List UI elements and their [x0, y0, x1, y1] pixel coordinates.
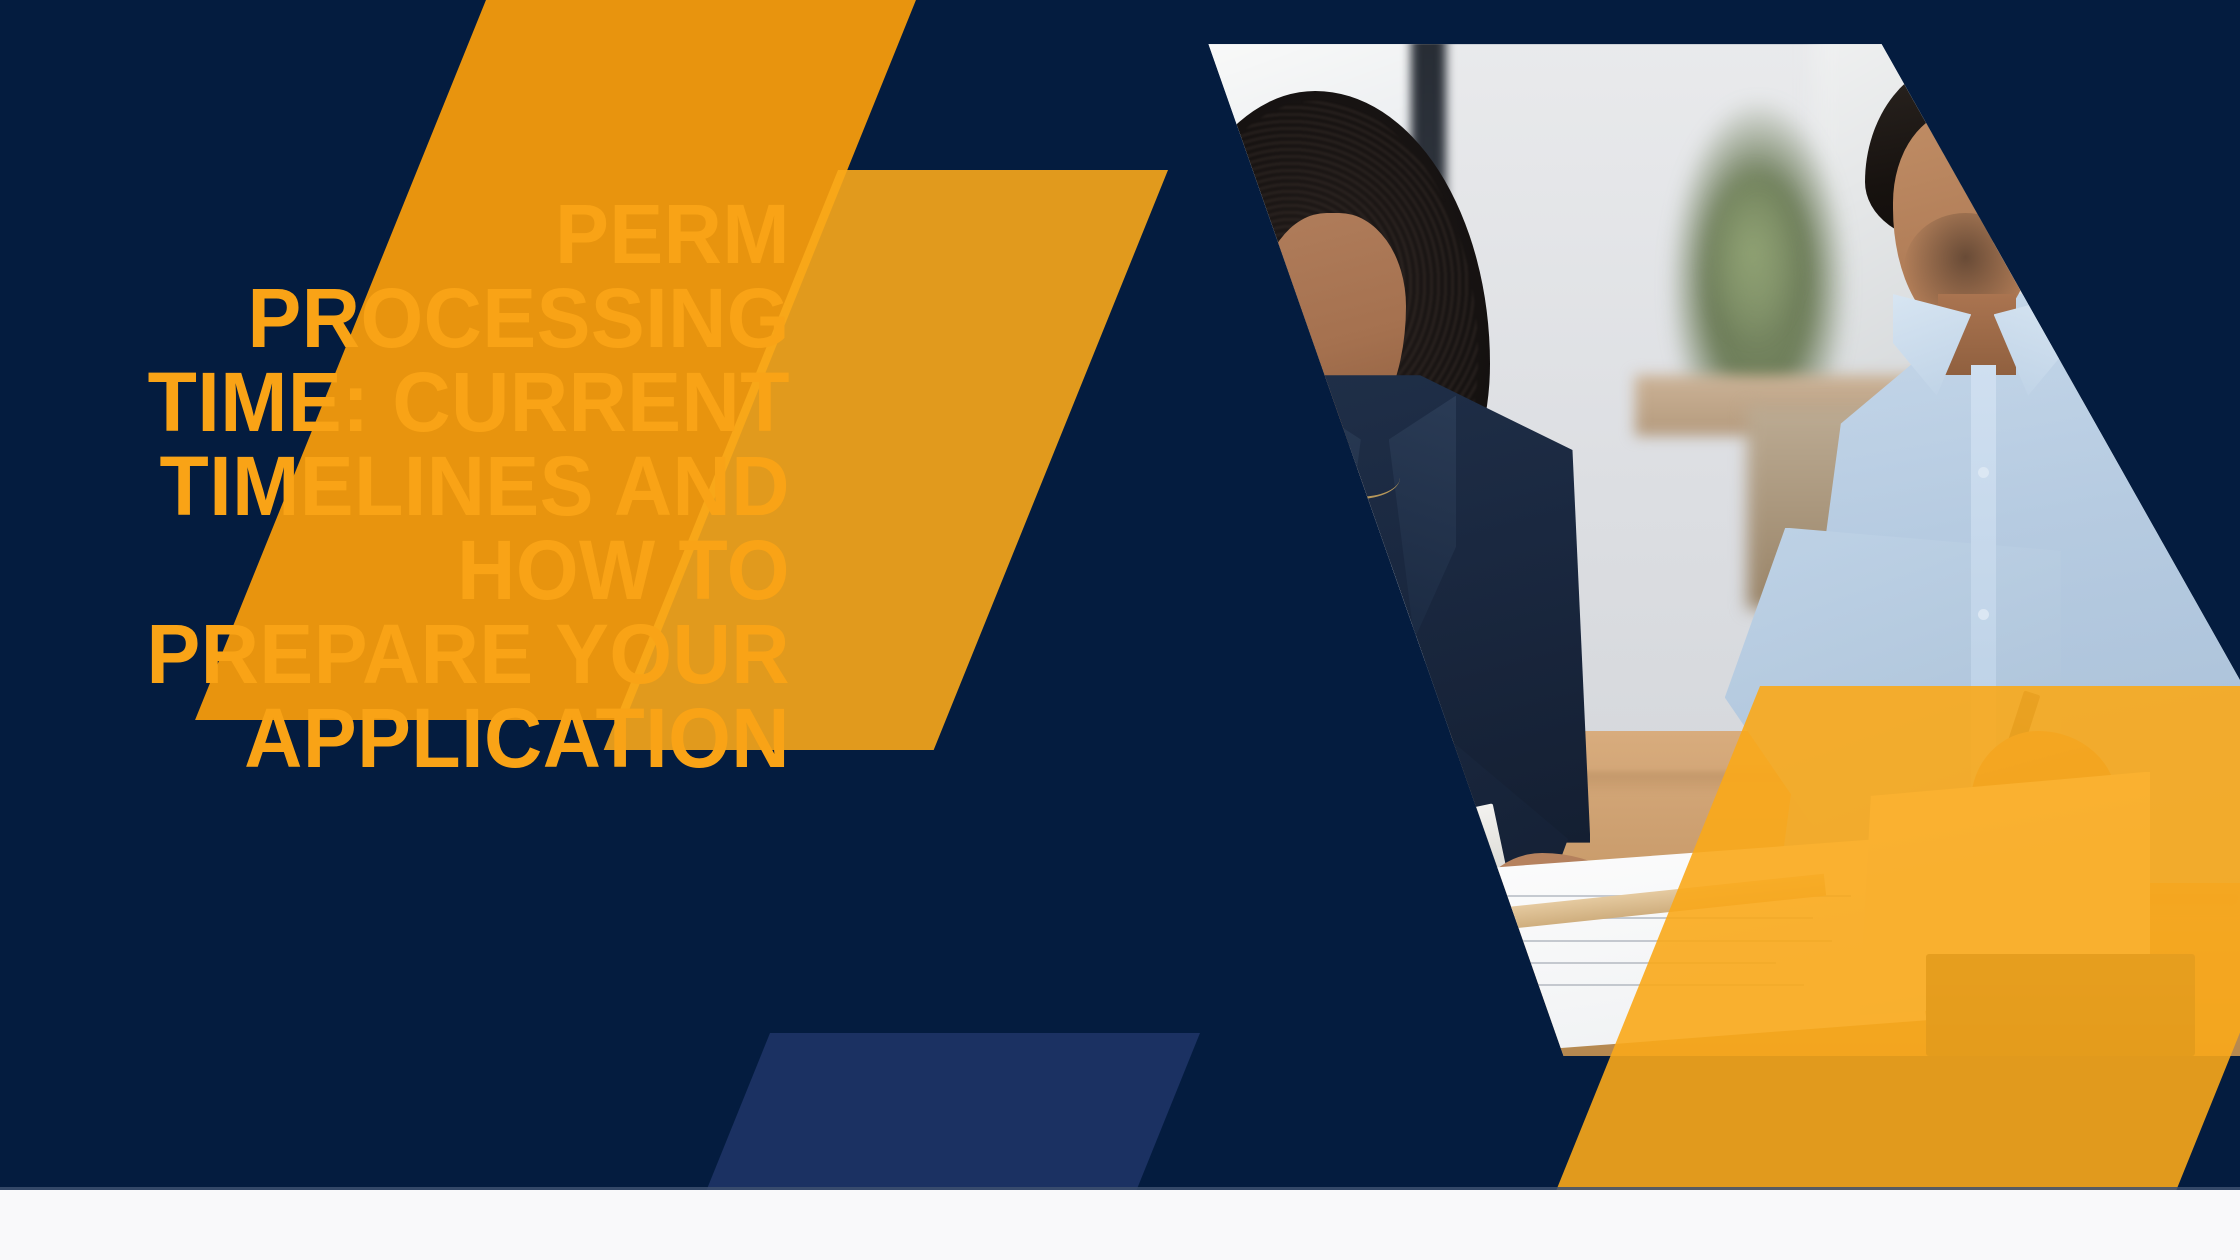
decor-parallelogram-navy-light — [705, 1033, 1200, 1190]
page-title: PERM PROCESSING TIME: CURRENT TIMELINES … — [137, 192, 790, 780]
office-plant-secondary — [1702, 162, 1803, 345]
banner-canvas: PERM PROCESSING TIME: CURRENT TIMELINES … — [0, 0, 2240, 1260]
woman-necklace — [1316, 457, 1400, 500]
banner-title-block: PERM PROCESSING TIME: CURRENT TIMELINES … — [110, 192, 790, 780]
page-content-area — [0, 1190, 2240, 1260]
window-mullion-left — [1165, 40, 1187, 507]
hero-banner: PERM PROCESSING TIME: CURRENT TIMELINES … — [0, 0, 2240, 1190]
woman-blazer — [1142, 375, 1590, 842]
man-shirt-button-top — [1978, 467, 1989, 478]
woman-shirt-cuff — [1405, 804, 1507, 892]
